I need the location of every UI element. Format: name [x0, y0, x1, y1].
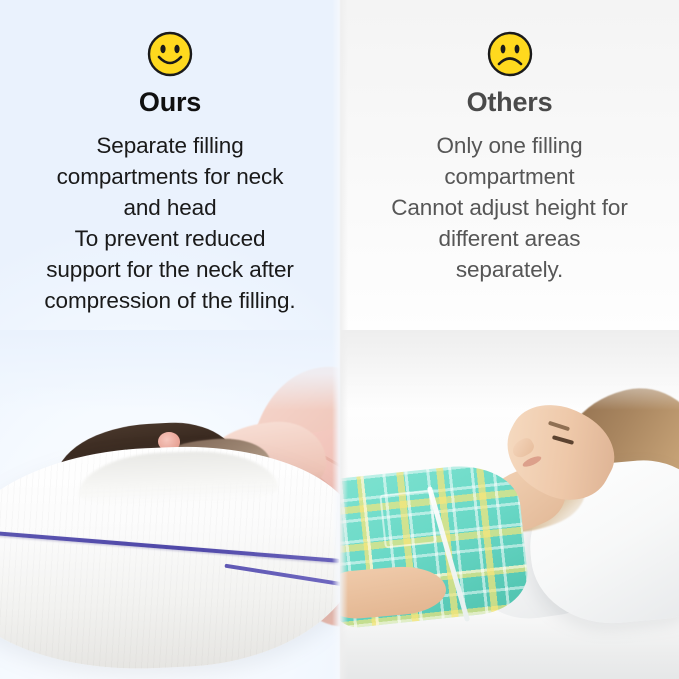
- others-text-block: Others Only one filling compartment Cann…: [340, 0, 679, 285]
- page-title-others: Others: [356, 88, 663, 118]
- others-description-line: separately.: [372, 254, 647, 285]
- ours-description-line: compression of the filling.: [28, 285, 312, 316]
- ours-description-line: Separate filling: [28, 130, 312, 161]
- page-title-ours: Ours: [16, 88, 324, 118]
- smiley-happy-face-icon: [146, 30, 194, 78]
- others-description-line: different areas: [372, 223, 647, 254]
- ours-text-block: Ours Separate filling compartments for n…: [0, 0, 340, 316]
- ours-description: Separate filling compartments for neck a…: [16, 130, 324, 316]
- pillow-comparison-infographic: Ours Separate filling compartments for n…: [0, 0, 679, 679]
- comparison-panel-others: Others Only one filling compartment Cann…: [340, 0, 679, 679]
- pajama-pocket: [379, 489, 436, 548]
- ours-description-line: and head: [28, 192, 312, 223]
- comparison-panel-ours: Ours Separate filling compartments for n…: [0, 0, 340, 679]
- others-description: Only one filling compartment Cannot adju…: [356, 130, 663, 285]
- ours-description-line: support for the neck after: [28, 254, 312, 285]
- others-description-line: Only one filling: [372, 130, 647, 161]
- others-description-line: Cannot adjust height for: [372, 192, 647, 223]
- ours-description-line: To prevent reduced: [28, 223, 312, 254]
- smiley-sad-face-icon: [486, 30, 534, 78]
- ours-description-line: compartments for neck: [28, 161, 312, 192]
- others-description-line: compartment: [372, 161, 647, 192]
